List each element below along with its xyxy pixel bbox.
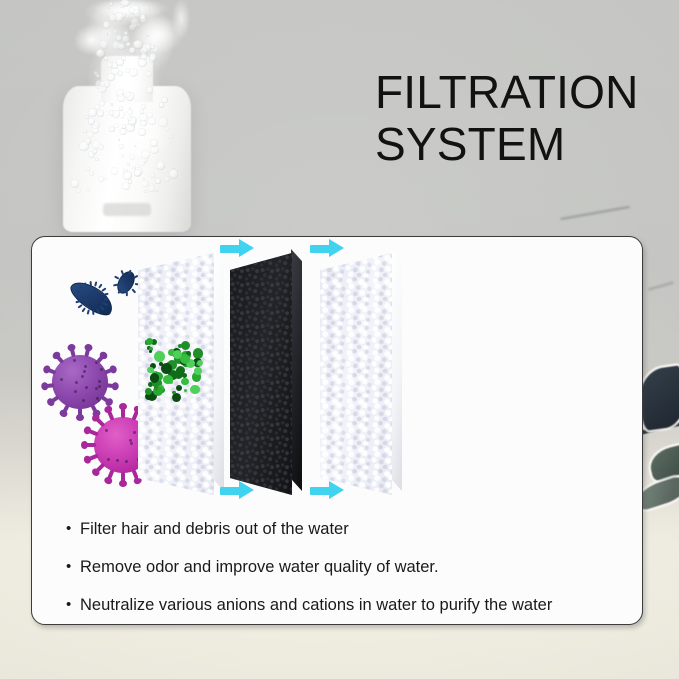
cilium-icon xyxy=(103,293,108,296)
bubble-icon xyxy=(142,43,151,52)
cilium-icon xyxy=(101,287,106,292)
bubble-icon xyxy=(149,53,157,61)
virus-pore xyxy=(83,370,86,373)
bubble-icon xyxy=(129,68,138,77)
virus-spike-icon xyxy=(85,443,96,447)
bubble-icon xyxy=(146,86,153,93)
list-item: • Neutralize various anions and cations … xyxy=(66,595,626,615)
bubble-icon xyxy=(104,56,108,60)
bubble-icon xyxy=(88,118,95,125)
cilium-icon xyxy=(100,306,105,311)
virus-pore xyxy=(84,365,87,368)
bullet-marker: • xyxy=(66,557,80,577)
bubble-icon xyxy=(107,7,110,10)
germ-dot xyxy=(176,385,182,391)
bubble-icon xyxy=(117,94,125,102)
bubble-icon xyxy=(156,161,165,170)
virus-pore xyxy=(98,400,101,403)
germ-dot xyxy=(194,367,202,375)
bubble-icon xyxy=(116,35,122,41)
virus-pore xyxy=(105,429,108,432)
bubble-icon xyxy=(157,64,159,66)
cilium-icon xyxy=(75,300,80,303)
bubble-icon xyxy=(169,169,178,178)
bubble-icon xyxy=(158,117,167,126)
cilium-icon xyxy=(125,291,127,296)
bubble-icon xyxy=(123,112,127,116)
virus-spike-icon xyxy=(107,469,115,481)
virus-spike-icon xyxy=(95,463,106,474)
germ-dot xyxy=(184,389,187,392)
bubble-icon xyxy=(71,179,80,188)
virus-spike-icon xyxy=(121,472,125,483)
virus-pore xyxy=(85,386,88,389)
flow-arrow-icon xyxy=(220,481,254,500)
bubble-icon xyxy=(103,21,111,29)
virus-pore xyxy=(81,375,84,378)
virus-pore xyxy=(73,359,76,362)
bubble-icon xyxy=(140,109,145,114)
bubble-icon xyxy=(107,73,115,81)
bullet-marker: • xyxy=(66,519,80,539)
bubble-icon xyxy=(83,129,87,133)
bubble-icon xyxy=(134,169,141,176)
virus-pore xyxy=(98,380,101,383)
filtration-diagram xyxy=(32,237,643,507)
feature-card: • Filter hair and debris out of the wate… xyxy=(31,236,643,625)
bubble-icon xyxy=(150,173,155,178)
bubble-icon xyxy=(137,23,140,26)
cilium-icon xyxy=(102,302,107,306)
virus-pore xyxy=(74,390,77,393)
bubble-icon xyxy=(87,131,94,138)
bubble-icon xyxy=(146,71,152,77)
bubble-icon xyxy=(118,43,125,50)
bubble-icon xyxy=(97,110,104,117)
cilium-icon xyxy=(92,310,94,315)
bubble-icon xyxy=(92,149,97,154)
germ-dot xyxy=(154,351,165,362)
bubble-icon xyxy=(100,40,108,48)
bubble-icon xyxy=(148,117,156,125)
bubble-icon xyxy=(118,71,123,76)
bubble-icon xyxy=(89,140,92,143)
bubble-icon xyxy=(123,171,132,180)
cilium-icon xyxy=(117,289,122,294)
bubble-icon xyxy=(124,91,131,98)
cilium-icon xyxy=(104,298,109,300)
mesh-face xyxy=(320,253,392,495)
bubble-icon xyxy=(104,177,107,180)
bubble-icon xyxy=(146,35,149,38)
virus-spike-icon xyxy=(104,368,114,375)
filter-layer-post-mesh xyxy=(320,253,392,495)
mesh-edge xyxy=(213,249,224,491)
germ-dot xyxy=(190,385,199,394)
bubble-icon xyxy=(144,190,147,193)
bubble-icon xyxy=(124,31,128,35)
bubble-icon xyxy=(118,138,121,141)
virus-spike-icon xyxy=(90,404,98,414)
cilium-icon xyxy=(114,275,119,279)
bubble-icon xyxy=(148,185,155,192)
bubble-icon xyxy=(112,110,120,118)
virus-spike-icon xyxy=(50,395,60,403)
germ-dot xyxy=(147,367,153,373)
germ-dot xyxy=(181,341,190,350)
bubble-icon xyxy=(122,182,130,190)
bubble-icon xyxy=(129,154,135,160)
mesh-edge xyxy=(391,249,402,491)
bubble-icon xyxy=(76,188,81,193)
virus-pore xyxy=(100,368,103,371)
bubble-icon xyxy=(141,180,148,187)
bubble-icon xyxy=(169,135,173,139)
germ-dot xyxy=(145,388,152,395)
virus-pore xyxy=(60,378,63,381)
bubble-icon xyxy=(119,144,124,149)
cilium-icon xyxy=(131,288,136,293)
virus-pore xyxy=(125,460,128,463)
list-item: • Remove odor and improve water quality … xyxy=(66,557,626,577)
bubble-icon xyxy=(126,68,131,73)
bubble-icon xyxy=(113,29,118,34)
page-title: FILTRATION SYSTEM xyxy=(375,66,665,170)
bubble-icon xyxy=(97,144,103,150)
bubble-icon xyxy=(161,97,167,103)
bubble-icon xyxy=(155,178,161,184)
cilium-icon xyxy=(81,307,86,312)
bubble-icon xyxy=(86,167,90,171)
germ-dot xyxy=(149,350,152,353)
cilium-icon xyxy=(120,270,124,275)
cilium-icon xyxy=(96,308,100,313)
bubble-icon xyxy=(138,128,146,136)
bubble-icon xyxy=(134,145,136,147)
germ-cluster-green xyxy=(142,337,204,399)
bubble-icon xyxy=(95,158,99,162)
carbon-edge xyxy=(291,249,302,491)
bubble-icon xyxy=(109,2,114,7)
bacterium-navy xyxy=(68,287,114,307)
bubble-icon xyxy=(121,56,126,61)
bubble-icon xyxy=(111,0,113,2)
cilium-icon xyxy=(84,282,88,287)
flow-arrow-icon xyxy=(310,239,344,258)
bubble-icon xyxy=(111,103,114,106)
germ-dot xyxy=(163,375,173,385)
cilium-icon xyxy=(79,285,84,290)
bubble-icon xyxy=(165,127,169,131)
virus-spike-icon xyxy=(95,417,106,428)
flow-arrow-icon xyxy=(310,481,344,500)
virus-purple xyxy=(52,355,108,409)
virus-spike-icon xyxy=(100,395,110,403)
germ-dot xyxy=(172,391,176,395)
bubble-icon xyxy=(127,163,130,166)
bubble-icon xyxy=(140,14,146,20)
bullet-text: Neutralize various anions and cations in… xyxy=(80,595,626,615)
bullet-text: Remove odor and improve water quality of… xyxy=(80,557,626,577)
bubble-icon xyxy=(94,71,98,75)
virus-spike-icon xyxy=(107,409,115,421)
bubble-icon xyxy=(113,123,118,128)
bubble-icon xyxy=(126,42,131,47)
virus-spike-icon xyxy=(70,348,76,358)
germ-dot xyxy=(197,360,203,366)
bubble-icon xyxy=(127,116,132,121)
product-feature-image: FILTRATION SYSTEM xyxy=(0,0,679,679)
virus-pore xyxy=(75,381,78,384)
bubble-icon xyxy=(132,124,135,127)
feature-bullet-list: • Filter hair and debris out of the wate… xyxy=(66,519,626,615)
bullet-text: Filter hair and debris out of the water xyxy=(80,519,626,539)
virus-pore xyxy=(116,459,119,462)
virus-pore xyxy=(130,442,133,445)
bubble-icon xyxy=(119,106,123,110)
bubble-icon xyxy=(86,188,90,192)
bubble-icon xyxy=(79,141,88,150)
bubble-icon xyxy=(141,53,148,60)
bubble-icon xyxy=(127,109,133,115)
cilium-icon xyxy=(75,296,80,298)
bubble-icon xyxy=(99,81,105,87)
bubble-icon xyxy=(121,117,123,119)
flow-arrow-icon xyxy=(220,239,254,258)
virus-spike-icon xyxy=(87,453,99,461)
virus-spike-icon xyxy=(78,408,82,417)
virus-pore xyxy=(95,387,98,390)
bubble-icon xyxy=(104,33,107,36)
bubble-icon xyxy=(155,190,157,192)
bubble-icon xyxy=(126,15,129,18)
cilium-icon xyxy=(128,269,131,274)
bubble-icon xyxy=(121,0,129,7)
cilium-icon xyxy=(76,290,81,294)
virus-pore xyxy=(98,385,101,388)
list-item: • Filter hair and debris out of the wate… xyxy=(66,519,626,539)
virus-pore xyxy=(82,399,85,402)
bubble-icon xyxy=(111,167,118,174)
virus-spike-icon xyxy=(121,407,125,418)
germ-dot xyxy=(150,373,159,382)
bubble-icon xyxy=(95,104,101,110)
cilium-icon xyxy=(90,281,92,286)
bacterium-navy-small xyxy=(114,275,136,288)
virus-pore xyxy=(133,431,136,434)
bubble-icon xyxy=(122,124,126,128)
cilium-icon xyxy=(113,283,118,286)
filter-layer-activated-carbon xyxy=(230,253,292,495)
cilium-icon xyxy=(87,309,90,314)
bubble-icon xyxy=(140,120,147,127)
bubble-icon xyxy=(121,154,124,157)
virus-spike-icon xyxy=(62,404,70,414)
bubble-icon xyxy=(137,158,145,166)
bullet-marker: • xyxy=(66,595,80,615)
bubble-icon xyxy=(89,171,94,176)
germ-dot xyxy=(181,378,189,386)
cilium-icon xyxy=(78,304,83,309)
cilium-icon xyxy=(98,284,103,289)
bubble-icon xyxy=(107,62,113,68)
carbon-face xyxy=(230,253,292,495)
virus-pore xyxy=(107,458,110,461)
cilium-icon xyxy=(94,281,97,286)
